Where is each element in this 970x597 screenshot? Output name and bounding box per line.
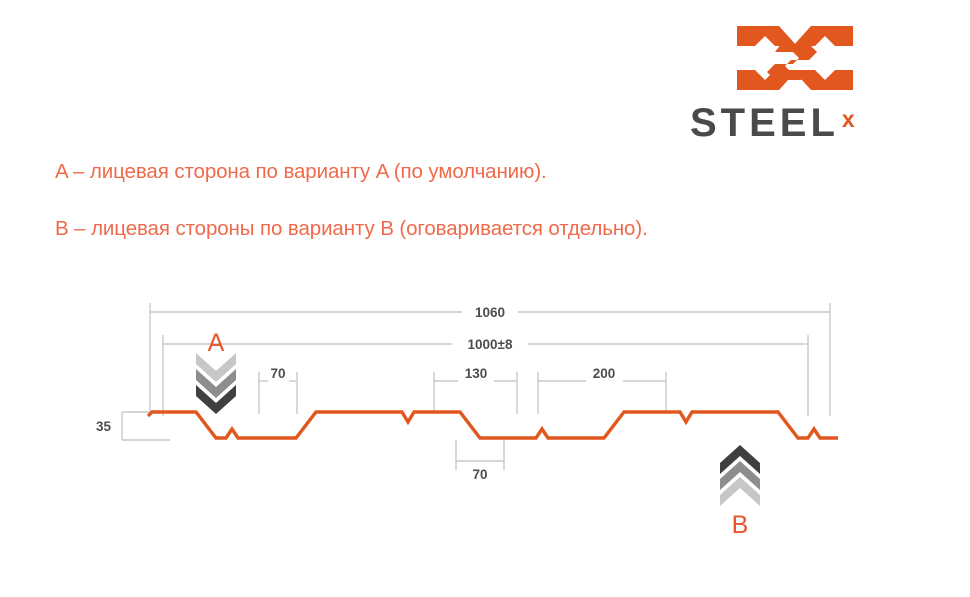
dimension-pitch-130: 130 bbox=[434, 366, 517, 414]
marker-variant-b: B bbox=[720, 445, 760, 539]
dimension-pitch-200: 200 bbox=[538, 366, 666, 414]
dimension-bottom-flange-70: 70 bbox=[456, 440, 504, 482]
dimension-label-130: 130 bbox=[465, 366, 488, 381]
dimension-label-200: 200 bbox=[593, 366, 616, 381]
dimension-label-35: 35 bbox=[96, 419, 112, 434]
profile-polyline bbox=[148, 412, 838, 438]
chevron-up-triple-icon bbox=[720, 445, 760, 506]
marker-variant-a: A bbox=[196, 329, 236, 414]
marker-label-b: B bbox=[732, 511, 749, 539]
dimension-label-1000: 1000±8 bbox=[468, 337, 513, 352]
dimension-label-bottom-70: 70 bbox=[472, 467, 487, 482]
dimension-overall-width: 1060 bbox=[150, 303, 830, 416]
dimension-label-top-70: 70 bbox=[270, 366, 285, 381]
dimension-top-flange-70: 70 bbox=[259, 366, 297, 414]
profile-cross-section-drawing: 1060 1000±8 70 130 200 35 bbox=[0, 0, 970, 597]
dimension-label-1060: 1060 bbox=[475, 305, 505, 320]
marker-label-a: A bbox=[208, 329, 225, 357]
dimension-height-35: 35 bbox=[96, 412, 170, 440]
chevron-down-triple-icon bbox=[196, 353, 236, 414]
